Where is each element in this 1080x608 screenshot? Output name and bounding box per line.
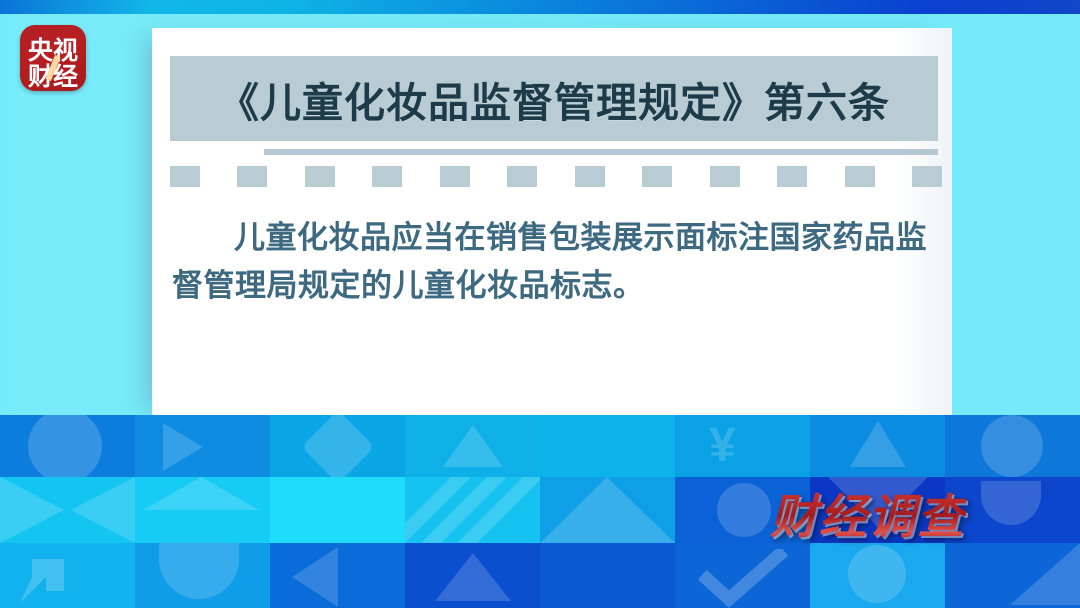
pattern-tile — [0, 477, 135, 543]
triangle-icon — [435, 553, 511, 601]
dash-mark — [237, 166, 267, 187]
triangle-icon — [1010, 543, 1080, 605]
program-logo: 财经调查 — [748, 482, 988, 542]
triangle-icon — [143, 477, 259, 510]
dash-mark — [440, 166, 470, 187]
pattern-tile: ¥ — [675, 415, 810, 477]
regulation-body-text: 儿童化妆品应当在销售包装展示面标注国家药品监督管理局规定的儿童化妆品标志。 — [172, 214, 932, 310]
dash-mark — [507, 166, 537, 187]
pattern-tile — [270, 543, 405, 608]
program-logo-text: 财经调查 — [770, 478, 966, 547]
pattern-tile — [0, 543, 135, 608]
title-underline-rule — [264, 149, 938, 155]
title-band: 《儿童化妆品监督管理规定》第六条 — [170, 56, 938, 141]
circle-icon — [848, 545, 906, 603]
triangle-icon — [850, 421, 906, 467]
circle-icon — [981, 415, 1043, 477]
circle-icon — [159, 543, 239, 599]
check-icon — [699, 549, 789, 608]
circle-icon — [28, 415, 102, 477]
pattern-tile — [945, 543, 1080, 608]
pattern-tile — [540, 415, 675, 477]
arrow-up-icon — [12, 551, 72, 608]
dash-mark — [710, 166, 740, 187]
pattern-row — [0, 543, 1080, 608]
triangle-icon — [0, 477, 64, 543]
triangle-icon — [71, 477, 135, 543]
pattern-tile — [675, 543, 810, 608]
yen-icon: ¥ — [709, 417, 736, 475]
pattern-tile — [405, 543, 540, 608]
pattern-tile — [135, 543, 270, 608]
triangle-icon — [292, 547, 338, 607]
pattern-tile — [405, 415, 540, 477]
pattern-tile — [135, 415, 270, 477]
top-gradient-bar — [0, 0, 1080, 14]
dash-mark — [372, 166, 402, 187]
pattern-tile — [540, 477, 675, 543]
dash-mark — [845, 166, 875, 187]
dash-divider-row — [170, 165, 942, 187]
triangle-icon — [443, 425, 503, 467]
dash-mark — [575, 166, 605, 187]
pattern-tile — [810, 543, 945, 608]
content-card: 《儿童化妆品监督管理规定》第六条 儿童化妆品应当在销售包装展示面标注国家药品监督… — [152, 28, 952, 418]
pattern-tile — [810, 415, 945, 477]
triangle-icon — [540, 477, 675, 543]
pattern-tile — [135, 477, 270, 543]
cctv-finance-logo: 央视 财经 — [20, 25, 86, 91]
pattern-tile — [945, 415, 1080, 477]
triangle-icon — [163, 423, 203, 471]
dash-mark — [305, 166, 335, 187]
pattern-row: ¥ — [0, 415, 1080, 477]
broadcast-frame: 《儿童化妆品监督管理规定》第六条 儿童化妆品应当在销售包装展示面标注国家药品监督… — [0, 0, 1080, 608]
circle-icon — [981, 481, 1041, 525]
diamond-icon — [301, 415, 375, 477]
content-card-inner: 《儿童化妆品监督管理规定》第六条 儿童化妆品应当在销售包装展示面标注国家药品监督… — [152, 28, 952, 418]
pattern-tile — [405, 477, 540, 543]
pattern-tile — [270, 477, 405, 543]
pattern-tile — [540, 543, 675, 608]
dash-mark — [912, 166, 942, 187]
dash-mark — [170, 166, 200, 187]
pattern-tile — [0, 415, 135, 477]
dash-mark — [642, 166, 672, 187]
page-title: 《儿童化妆品监督管理规定》第六条 — [218, 69, 890, 129]
dash-mark — [777, 166, 807, 187]
pattern-tile — [270, 415, 405, 477]
